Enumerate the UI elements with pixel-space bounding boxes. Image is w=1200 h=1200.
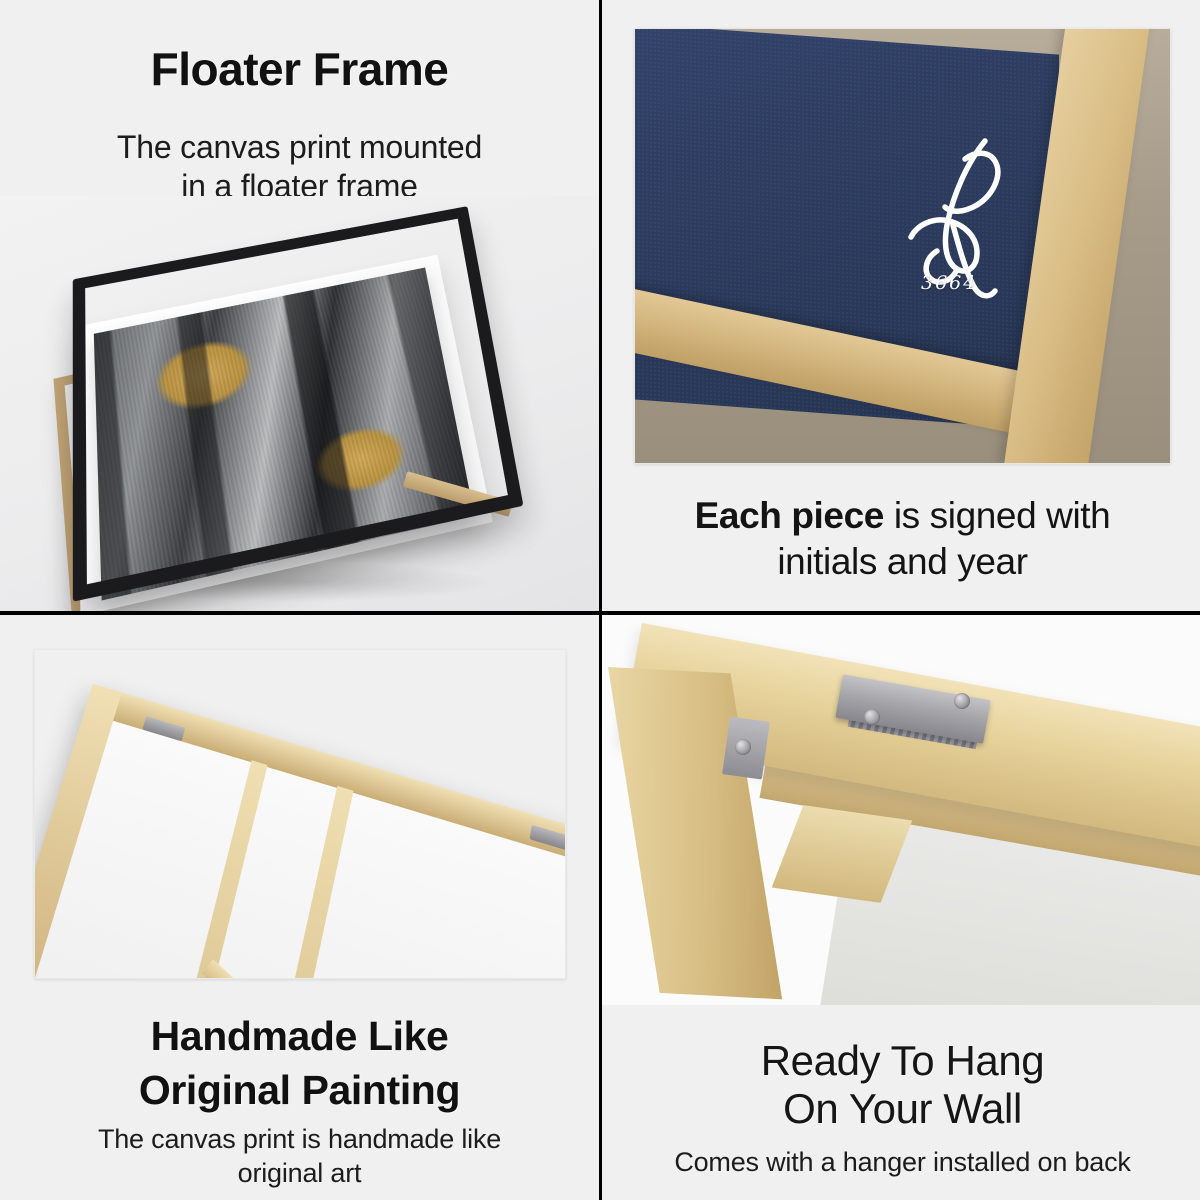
panel-floater-frame: Floater Frame The canvas print mounted i… bbox=[0, 0, 599, 611]
exploded-frame-illustration bbox=[0, 196, 599, 611]
handmade-caption: Handmade Like Original Painting The canv… bbox=[10, 1009, 589, 1190]
handmade-headline-line1: Handmade Like bbox=[10, 1009, 589, 1063]
black-floater-frame bbox=[73, 206, 524, 602]
cross-brace-diagonal bbox=[202, 959, 538, 979]
panel-handmade: Handmade Like Original Painting The canv… bbox=[0, 615, 599, 1200]
product-feature-infographic: Floater Frame The canvas print mounted i… bbox=[0, 0, 1200, 1200]
signed-piece-caption-line1: Each piece is signed with bbox=[618, 493, 1187, 539]
stretcher-bar-photo bbox=[34, 649, 566, 979]
ready-to-hang-headline-line1: Ready To Hang bbox=[612, 1037, 1193, 1085]
cross-brace-vertical bbox=[166, 760, 268, 979]
hanger-bracket-photo bbox=[602, 615, 1200, 1005]
signed-canvas-photo: 3664 bbox=[634, 28, 1171, 464]
panel-signed-piece: 3664 Each piece is signed with initials … bbox=[602, 0, 1200, 611]
handmade-subtitle-line2: original art bbox=[10, 1156, 589, 1190]
cross-brace-vertical-2 bbox=[261, 786, 354, 979]
ready-to-hang-subtitle: Comes with a hanger installed on back bbox=[612, 1147, 1193, 1178]
floater-frame-title: Floater Frame bbox=[0, 44, 599, 96]
ready-to-hang-headline-line2: On Your Wall bbox=[612, 1085, 1193, 1133]
floater-frame-subtitle: The canvas print mounted in a floater fr… bbox=[40, 128, 559, 206]
panel-ready-to-hang: Ready To Hang On Your Wall Comes with a … bbox=[602, 615, 1200, 1200]
signed-piece-caption: Each piece is signed with initials and y… bbox=[618, 493, 1187, 585]
stretcher-bar-left bbox=[34, 684, 122, 979]
signed-piece-caption-rest: is signed with bbox=[884, 495, 1110, 536]
floater-frame-photo bbox=[0, 196, 599, 611]
hanger-screw-left bbox=[864, 709, 880, 725]
canvas-back-surface bbox=[34, 684, 566, 979]
signed-piece-caption-bold: Each piece bbox=[695, 495, 884, 536]
handmade-subtitle-line1: The canvas print is handmade like bbox=[10, 1122, 589, 1156]
hanger-screw-tab bbox=[735, 739, 751, 755]
ready-to-hang-caption: Ready To Hang On Your Wall Comes with a … bbox=[612, 1037, 1193, 1178]
handmade-headline-line2: Original Painting bbox=[10, 1063, 589, 1117]
signature-year: 3664 bbox=[921, 272, 977, 294]
floater-frame-subtitle-line1: The canvas print mounted bbox=[40, 128, 559, 167]
signed-piece-caption-line2: initials and year bbox=[618, 539, 1187, 585]
hanger-screw-right bbox=[954, 693, 970, 709]
